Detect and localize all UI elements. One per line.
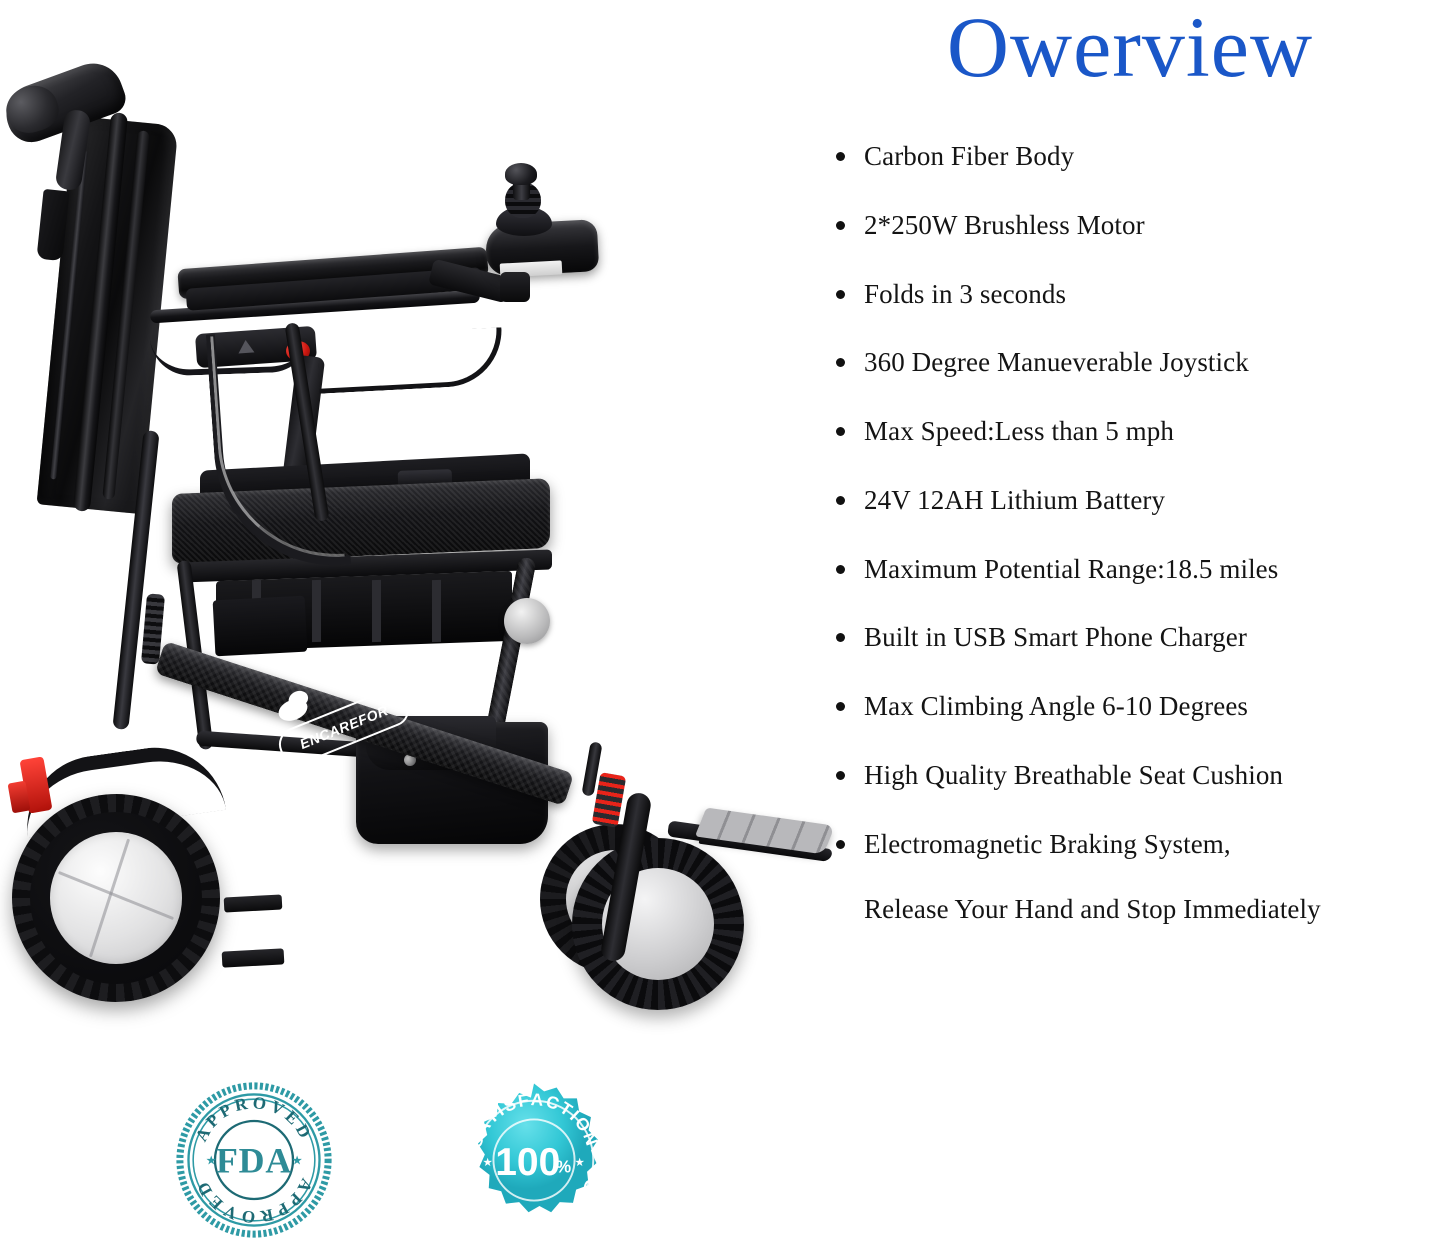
battery-rib (372, 580, 381, 642)
battery-rib (432, 580, 441, 642)
feature-item-battery: 24V 12AH Lithium Battery (818, 484, 1438, 518)
feature-text: Max Climbing Angle 6-10 Degrees (864, 691, 1248, 721)
feature-text: Maximum Potential Range:18.5 miles (864, 554, 1278, 584)
product-image-pane: ENCAREFOR (0, 0, 800, 1060)
svg-text:%: % (556, 1156, 571, 1176)
svg-text:100: 100 (495, 1141, 560, 1184)
svg-text:★: ★ (575, 1156, 585, 1169)
feature-text-continuation: Release Your Hand and Stop Immediately (864, 893, 1438, 927)
bullet-icon (836, 840, 845, 849)
feature-item-usb-charger: Built in USB Smart Phone Charger (818, 621, 1438, 655)
wheelchair-illustration: ENCAREFOR (0, 0, 800, 1060)
satisfaction-guaranteed-icon: SATISFACTION GUARANTEED ★ ★ 100 % (456, 1082, 612, 1238)
feature-text: Built in USB Smart Phone Charger (864, 622, 1247, 652)
bullet-icon (836, 633, 845, 642)
frame-pivot-cap (504, 598, 550, 644)
satisfaction-guaranteed-seal: SATISFACTION GUARANTEED ★ ★ 100 % (456, 1082, 612, 1238)
bullet-icon (836, 221, 845, 230)
feature-item-brushless-motor: 2*250W Brushless Motor (818, 209, 1438, 243)
anti-tip-bar (222, 948, 285, 967)
svg-text:★: ★ (206, 1154, 217, 1168)
feature-list: Carbon Fiber Body 2*250W Brushless Motor… (818, 140, 1438, 962)
feature-item-carbon-fiber-body: Carbon Fiber Body (818, 140, 1438, 174)
svg-text:★: ★ (291, 1154, 302, 1168)
feature-item-braking-system: Electromagnetic Braking System, Release … (818, 828, 1438, 928)
fda-approved-icon: APPROVED APPROVED ★ ★ FDA (176, 1082, 332, 1238)
page-title: Owerview (820, 4, 1440, 92)
bullet-icon (836, 152, 845, 161)
bullet-icon (836, 290, 845, 299)
front-suspension-spring (592, 772, 627, 828)
feature-text: Max Speed:Less than 5 mph (864, 416, 1174, 446)
battery-rib (312, 580, 321, 642)
joystick-clamp (500, 272, 530, 302)
feature-text: 24V 12AH Lithium Battery (864, 485, 1165, 515)
svg-text:FDA: FDA (216, 1140, 292, 1180)
bullet-icon (836, 565, 845, 574)
feature-item-joystick: 360 Degree Manueverable Joystick (818, 346, 1438, 380)
feature-text: High Quality Breathable Seat Cushion (864, 760, 1283, 790)
feature-text: Electromagnetic Braking System, (864, 829, 1231, 859)
rear-wheel-hubcap (50, 832, 182, 964)
control-cable (317, 327, 505, 394)
bullet-icon (836, 702, 845, 711)
joystick-knob (505, 163, 537, 185)
calf-strap (213, 596, 308, 657)
bullet-icon (836, 427, 845, 436)
bullet-icon (836, 358, 845, 367)
anti-tip-bar (224, 894, 283, 912)
feature-text: 2*250W Brushless Motor (864, 210, 1145, 240)
svg-text:★: ★ (483, 1156, 493, 1169)
bullet-icon (836, 771, 845, 780)
feature-text: 360 Degree Manueverable Joystick (864, 347, 1249, 377)
bullet-icon (836, 496, 845, 505)
feature-text: Carbon Fiber Body (864, 141, 1074, 171)
certification-badges: APPROVED APPROVED ★ ★ FDA (176, 1082, 626, 1242)
feature-text: Folds in 3 seconds (864, 279, 1066, 309)
overview-text-pane: Owerview Carbon Fiber Body 2*250W Brushl… (800, 0, 1445, 1248)
feature-item-seat-cushion: High Quality Breathable Seat Cushion (818, 759, 1438, 793)
product-overview-page: ENCAREFOR (0, 0, 1445, 1248)
feature-item-max-speed: Max Speed:Less than 5 mph (818, 415, 1438, 449)
feature-item-climbing-angle: Max Climbing Angle 6-10 Degrees (818, 690, 1438, 724)
feature-item-range: Maximum Potential Range:18.5 miles (818, 553, 1438, 587)
feature-item-folds-in-3-seconds: Folds in 3 seconds (818, 278, 1438, 312)
fda-approved-seal: APPROVED APPROVED ★ ★ FDA (176, 1082, 332, 1238)
